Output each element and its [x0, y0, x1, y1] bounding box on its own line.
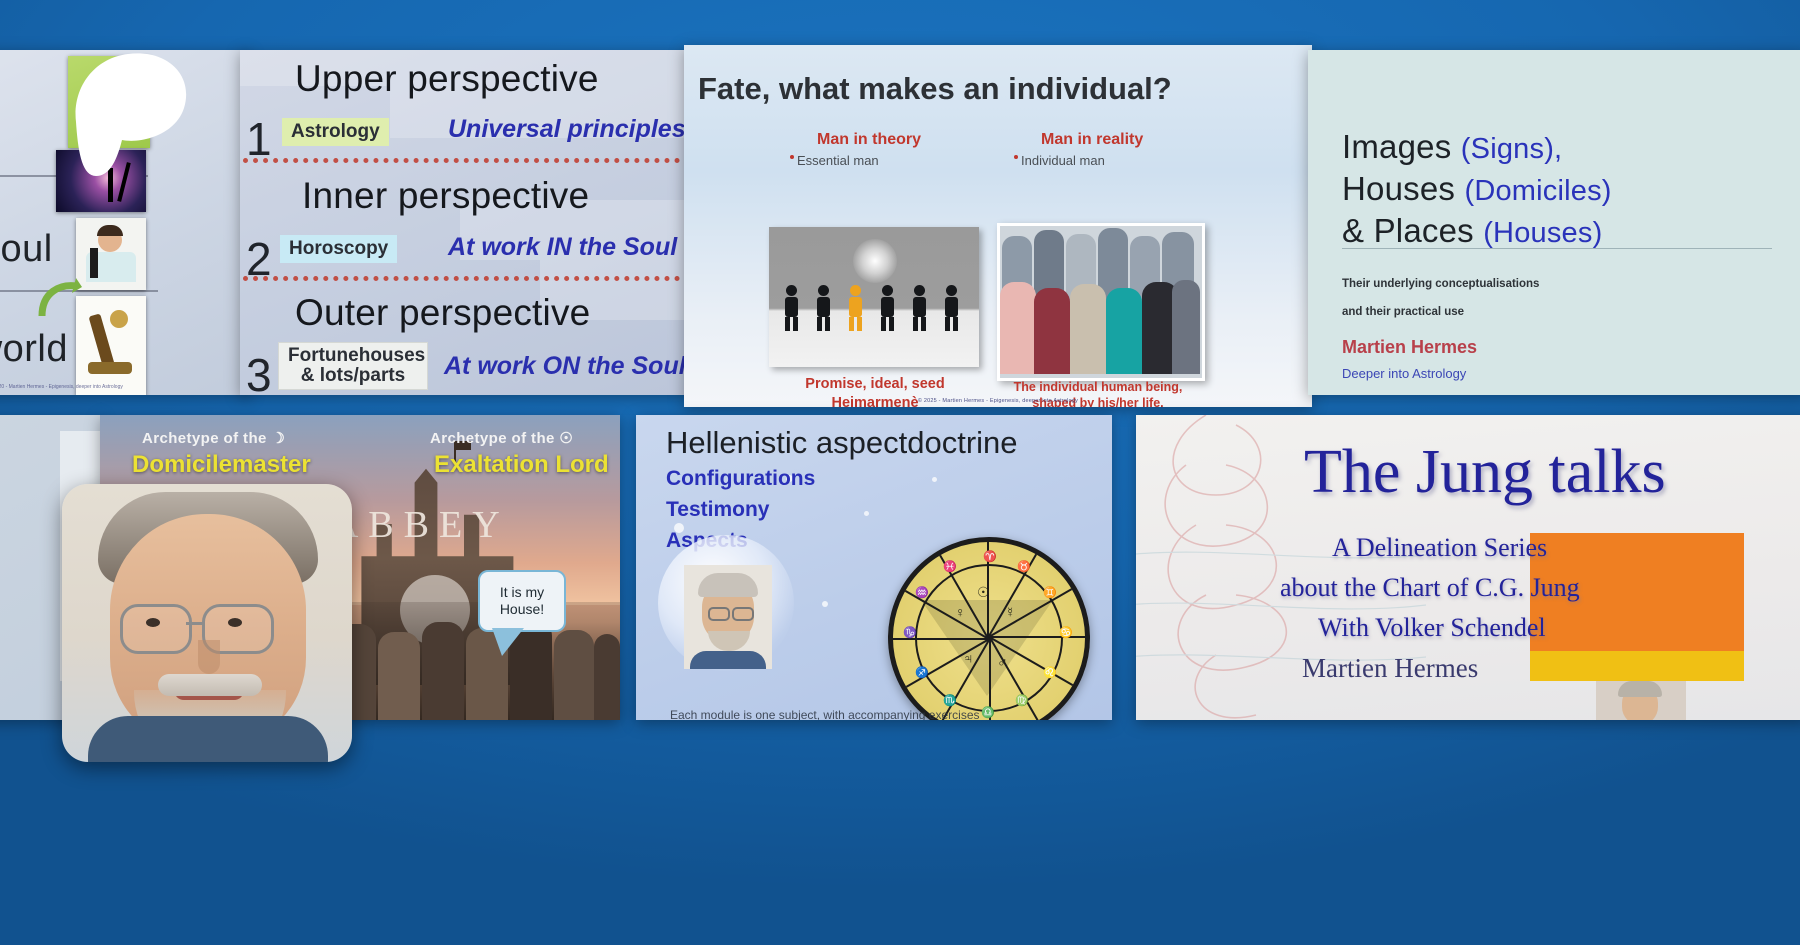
row-separator — [243, 276, 688, 281]
subtitle-line-2: and their practical use — [1342, 306, 1464, 318]
row-number-2: 2 — [246, 232, 272, 286]
slide-footnote: Each module is one subject, with accompa… — [670, 708, 980, 720]
note-universal-principles: Universal principles — [448, 115, 686, 144]
subtitle-line-1: A Delineation Series — [1332, 533, 1547, 563]
eye-right — [228, 618, 242, 627]
slide-images-houses-places[interactable]: Images (Signs), Houses (Domiciles) & Pla… — [1308, 50, 1800, 395]
heading-line-1: Images (Signs), — [1342, 128, 1562, 166]
heading-line-3: & Places (Houses) — [1342, 212, 1602, 250]
crowd-photo — [997, 223, 1205, 381]
subtitle-line-3: With Volker Schendel — [1318, 613, 1546, 643]
slide-tagline: Deeper into Astrology — [1342, 366, 1466, 381]
glasses-bridge — [186, 622, 204, 625]
note-at-work-in-soul: At work IN the Soul — [448, 233, 677, 262]
row-title-2: Inner perspective — [302, 175, 589, 217]
row-number-1: 1 — [246, 112, 272, 166]
row-separator — [243, 158, 688, 163]
slide-copyright: © 2025 - Martien Hermes - Epigenesis, de… — [684, 398, 1312, 404]
row-title-1: Upper perspective — [295, 58, 599, 100]
microscope-thumb — [76, 296, 146, 395]
slide-the-jung-talks[interactable]: The Jung talks A Delineation Series abou… — [1136, 415, 1800, 720]
label-archetype-sun: Archetype of the ☉ — [430, 429, 573, 447]
eye-left — [146, 618, 160, 627]
essential-man-figure-graphic — [769, 227, 979, 367]
bullet-configurations: Configurations — [666, 467, 815, 491]
slide-title-fate: Fate, what makes an individual? — [698, 71, 1172, 107]
chip-astrology: Astrology — [282, 118, 389, 146]
slide-author: Martien Hermes — [1302, 653, 1478, 684]
header-man-in-reality: Man in reality — [1041, 131, 1143, 149]
divider-rule — [1342, 248, 1772, 249]
title-exaltation-lord: Exaltation Lord — [434, 451, 609, 479]
row-title-3: Outer perspective — [295, 292, 590, 334]
slide-title-jung-talks: The Jung talks — [1304, 437, 1666, 508]
screen-background: e Soul e world © 2020 - Martien Hermes -… — [0, 0, 1800, 945]
author-thumbnail — [1596, 681, 1686, 720]
slide-three-perspectives[interactable]: 1 Upper perspective Astrology Universal … — [240, 50, 688, 395]
glasses-left — [120, 604, 192, 654]
moon-symbol-icon: ☽ — [271, 430, 285, 447]
zodiac-chart-wheel-icon: ♈ ♉ ♊ ♋ ♌ ♍ ♎ ♏ ♐ ♑ ♒ ♓ ☉ ♀ ☿ ♃ ♂ — [888, 537, 1090, 720]
bullet-essential-man: Essential man — [797, 153, 879, 168]
note-at-work-on-soul: At work ON the Soul — [444, 352, 686, 381]
presenter-webcam-overlay[interactable] — [62, 484, 352, 762]
header-man-in-theory: Man in theory — [817, 131, 921, 149]
chip-fortunehouses-line1: Fortunehouses — [288, 345, 425, 366]
patreon-logo-icon — [72, 52, 190, 177]
heading-line-2: Houses (Domiciles) — [1342, 170, 1612, 208]
chip-horoscopy: Horoscopy — [280, 235, 397, 263]
slide-copyright: © 2020 - Martien Hermes - Epigenesis, de… — [0, 384, 123, 390]
moustache — [158, 674, 262, 696]
yellow-accent-block — [1530, 651, 1744, 681]
title-domicilemaster: Domicilemaster — [132, 451, 311, 479]
shirt — [88, 716, 328, 762]
soul-text: e Soul — [0, 228, 53, 271]
slide-author: Martien Hermes — [1342, 337, 1477, 358]
slide-fate-individual[interactable]: Fate, what makes an individual? Man in t… — [684, 45, 1312, 407]
sun-symbol-icon: ☉ — [559, 430, 573, 447]
green-curved-arrow-icon — [36, 276, 82, 322]
row-number-3: 3 — [246, 348, 272, 395]
slide-hellenistic-aspectdoctrine[interactable]: Hellenistic aspectdoctrine Configuration… — [636, 415, 1112, 720]
scientist-thumb — [76, 218, 146, 290]
nose — [198, 640, 220, 674]
bullet-testimony: Testimony — [666, 498, 769, 522]
bullet-individual-man: Individual man — [1021, 153, 1105, 168]
speech-bubble: It is my House! — [478, 570, 566, 632]
subtitle-line-2: about the Chart of C.G. Jung — [1280, 573, 1580, 603]
label-archetype-moon: Archetype of the ☽ — [142, 429, 285, 447]
slide-title-aspectdoctrine: Hellenistic aspectdoctrine — [666, 425, 1018, 461]
chip-fortunehouses-line2: & lots/parts — [301, 365, 406, 386]
world-text: e world — [0, 328, 68, 371]
subtitle-line-1: Their underlying conceptualisations — [1342, 278, 1539, 290]
presenter-thumbnail — [684, 565, 772, 669]
